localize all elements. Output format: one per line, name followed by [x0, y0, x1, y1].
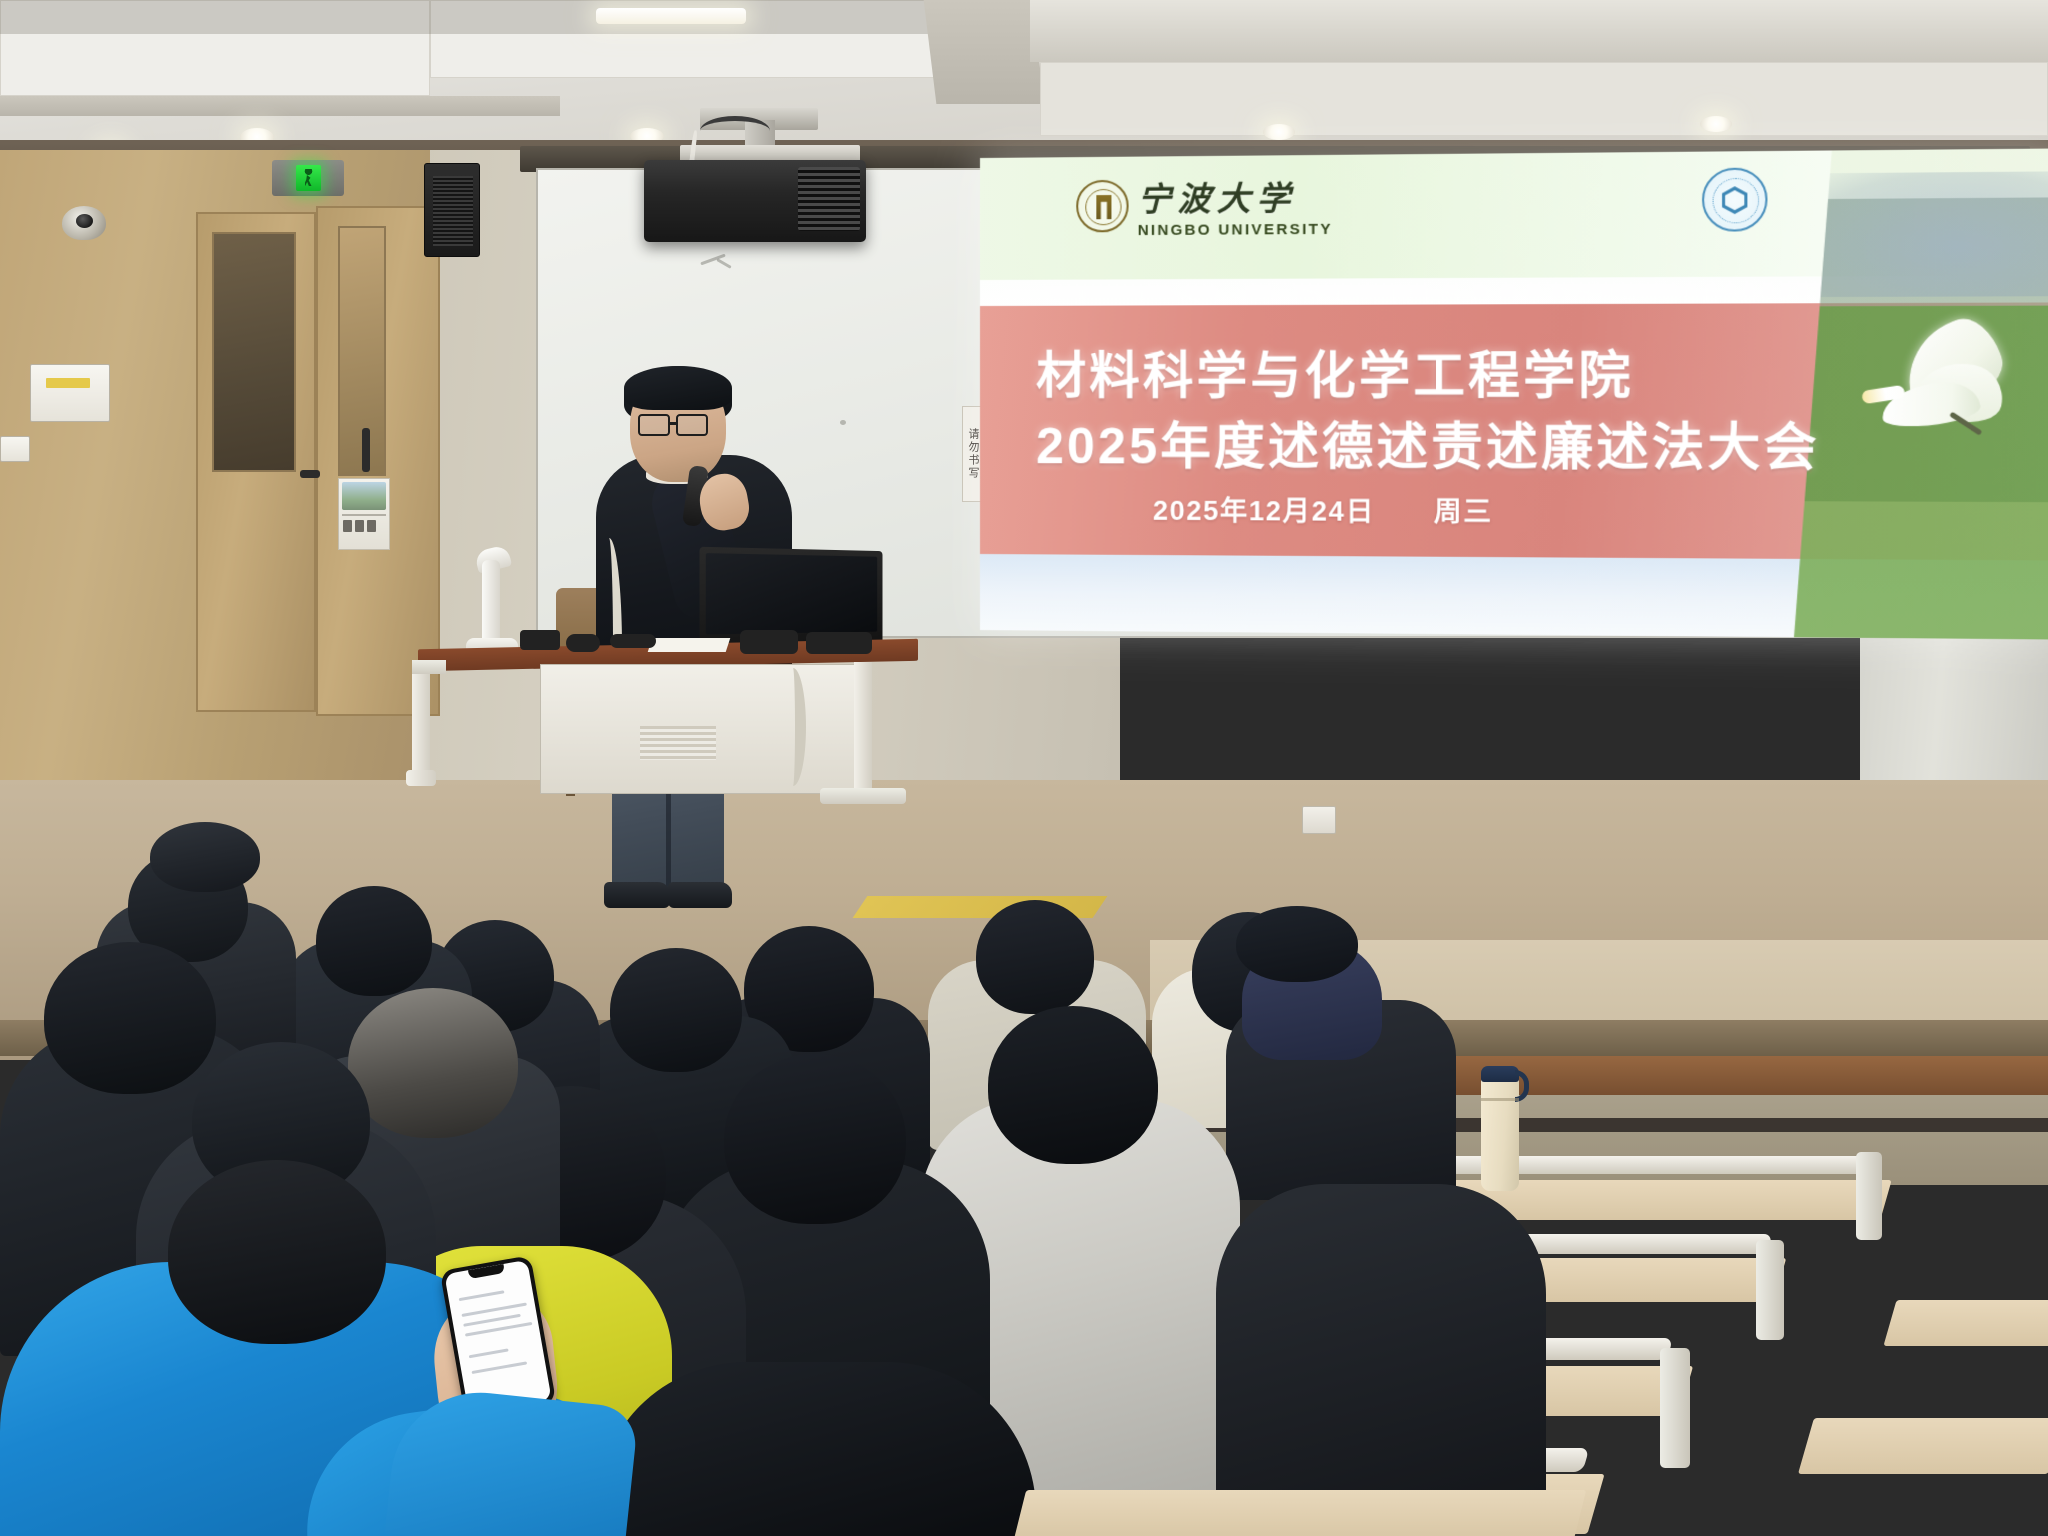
tiered-desk — [1883, 1300, 2048, 1346]
camera-lens-icon — [76, 214, 93, 228]
coiled-cable — [780, 668, 806, 786]
desk-object — [566, 634, 600, 652]
attendee-head — [44, 942, 216, 1094]
ningbo-university-seal-icon — [1076, 180, 1128, 233]
ceiling-beam — [0, 96, 560, 116]
projector-cable — [700, 116, 770, 146]
desk-object — [806, 632, 872, 654]
slide-date: 2025年12月24日 周三 — [1153, 489, 1493, 530]
thermos-band — [1481, 1098, 1519, 1101]
emergency-exit-sign — [272, 160, 344, 196]
thermos-bottle — [1481, 1075, 1519, 1191]
attendee-head — [610, 948, 742, 1072]
projected-slide: 宁波大学 NINGBO UNIVERSITY 材料科学与化学工程学院 2025年… — [980, 148, 2048, 639]
attendee-head — [150, 822, 260, 892]
phone-text-line — [459, 1290, 505, 1301]
lectern-bracket — [412, 660, 446, 674]
lectern-leg — [854, 662, 872, 794]
exit-running-man-icon — [296, 165, 321, 191]
door-handle[interactable] — [362, 428, 370, 472]
ceiling-beam — [1030, 0, 2048, 62]
desk-object — [610, 634, 656, 648]
wall-speaker — [424, 163, 480, 257]
tiered-desk-front — [1014, 1490, 1586, 1536]
attendee-black-coat-front — [596, 1362, 1036, 1536]
phone-text-line — [469, 1348, 509, 1358]
notice-photo — [342, 482, 386, 510]
lecture-hall-photo: 请勿书写 请勿书写 宁波大学 NINGBO UNIVERSITY 材料 — [0, 0, 2048, 1536]
attendee-head — [1236, 906, 1358, 982]
desk-rail — [1387, 1156, 1872, 1174]
photo-background-blur — [1794, 171, 2048, 297]
egret-bird-icon — [1856, 323, 2027, 458]
thermos-cap — [1481, 1066, 1519, 1082]
lectern-foot — [406, 770, 436, 786]
whiteboard-mark — [840, 420, 846, 425]
eyeglasses-right-lens-icon — [676, 414, 708, 436]
monitor-screen — [706, 553, 877, 634]
notice-text-line — [342, 514, 386, 516]
door-glass-panel — [212, 232, 296, 472]
notice-thumbnail — [367, 520, 376, 532]
attendee-head — [976, 900, 1094, 1014]
slide-photo-egret — [1794, 148, 2048, 639]
door-handle[interactable] — [300, 470, 320, 478]
presenter-hair-top — [624, 366, 732, 410]
attendee-head — [988, 1006, 1158, 1164]
attendee-grey-hair — [348, 988, 518, 1138]
attendee-head — [724, 1054, 906, 1224]
desk-object — [520, 630, 560, 650]
tiered-desk — [1798, 1418, 2048, 1474]
wall-power-socket[interactable] — [1302, 806, 1336, 834]
wall-control-panel[interactable] — [30, 364, 110, 422]
eyeglasses-left-lens-icon — [638, 414, 670, 436]
attendee-head — [316, 886, 432, 996]
printed-papers — [648, 638, 731, 652]
notice-thumbnail — [355, 520, 364, 532]
wall-outlet[interactable] — [0, 436, 30, 462]
ceiling-light — [1700, 116, 1732, 132]
notice-thumbnail — [343, 520, 352, 532]
phone-notch — [468, 1264, 505, 1279]
presenter-shoe-left — [604, 882, 670, 908]
desk-post — [1856, 1152, 1882, 1240]
desk-object — [740, 630, 798, 654]
phone-text-line — [472, 1361, 528, 1374]
slide-title-line1: 材料科学与化学工程学院 — [1036, 335, 1634, 409]
university-name-en: NINGBO UNIVERSITY — [1138, 221, 1333, 239]
university-logo: 宁波大学 NINGBO UNIVERSITY — [1076, 171, 1332, 239]
university-name-cn: 宁波大学 — [1138, 171, 1333, 221]
attendee-black-coat — [1216, 1184, 1546, 1536]
panel-led-indicator — [46, 378, 90, 388]
ceiling-light — [596, 8, 746, 24]
attendee-head — [168, 1160, 386, 1344]
desk-post — [1660, 1348, 1690, 1468]
lectern-leg — [412, 660, 430, 780]
slide-title-line2: 2025年度述德述责述廉述法大会 — [1036, 406, 1820, 481]
desk-post — [1756, 1240, 1784, 1340]
presenter-shoe-right — [668, 882, 732, 908]
ceiling-projector — [644, 160, 866, 242]
eyeglasses-bridge — [670, 422, 678, 425]
ceiling-panel — [1040, 62, 2048, 136]
ceiling-beam — [924, 0, 1045, 104]
projector-vent — [798, 167, 860, 231]
lectern-vent — [640, 726, 716, 760]
college-emblem-icon — [1702, 168, 1767, 232]
lectern-foot — [820, 788, 906, 804]
ceiling-light — [1263, 124, 1295, 140]
